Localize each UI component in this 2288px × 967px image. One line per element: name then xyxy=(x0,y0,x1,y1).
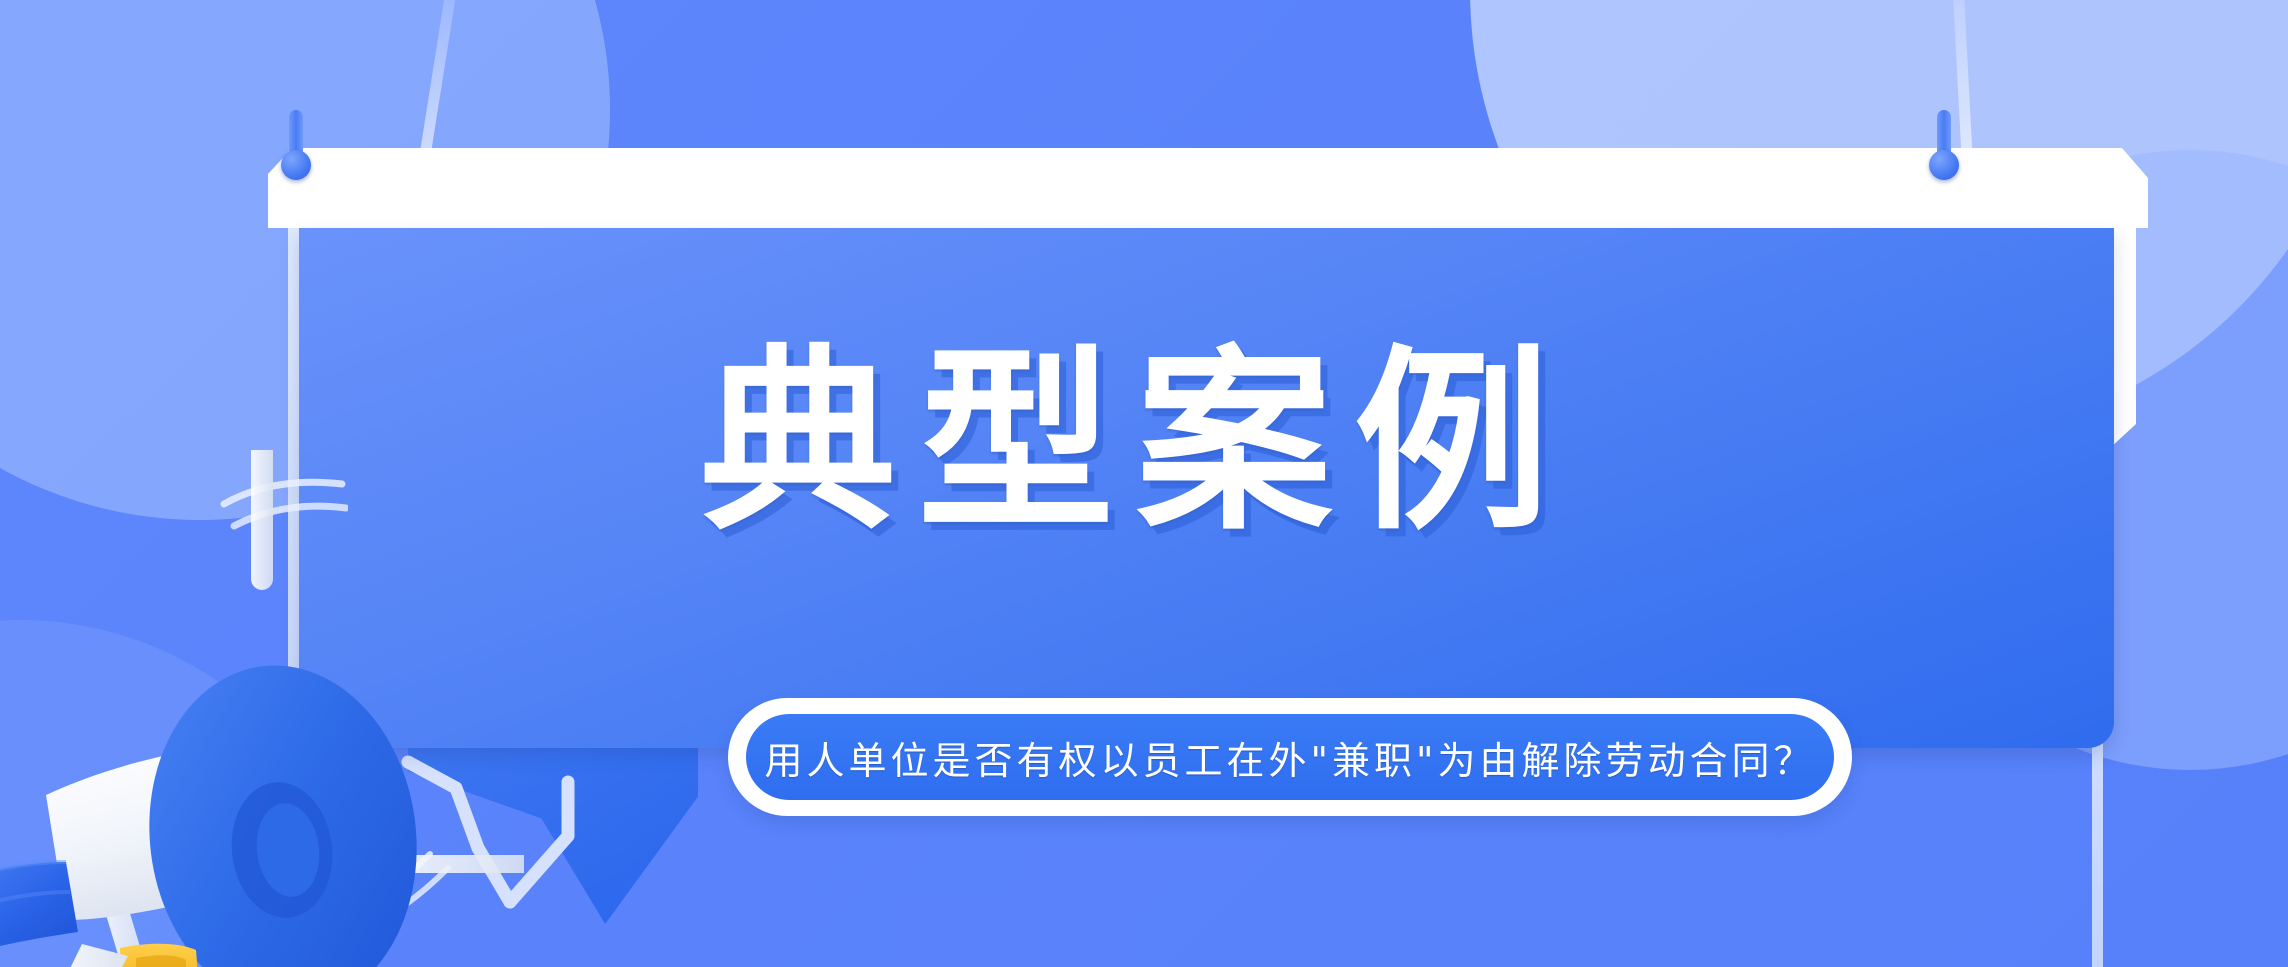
sound-wave-icon xyxy=(310,838,460,948)
megaphone-horn-icon xyxy=(46,746,272,920)
megaphone-bell-mouth-icon xyxy=(252,800,325,901)
megaphone-handle-icon xyxy=(38,944,128,967)
megaphone-grip-icon xyxy=(0,862,78,966)
hanging-string-icon xyxy=(418,0,461,166)
frame-rail-left-icon xyxy=(288,228,299,840)
subtitle-text: 用人单位是否有权以员工在外"兼职"为由解除劳动合同？ xyxy=(765,730,1816,785)
case-study-banner: 典型案例 用人单位是否有权以员工在外"兼职"为由解除劳动合同？ xyxy=(0,0,2288,967)
page-title: 典型案例 xyxy=(700,318,1810,569)
speech-bubble-tail-icon xyxy=(408,742,698,924)
hanging-string-icon xyxy=(1951,0,1973,165)
subtitle-pill: 用人单位是否有权以员工在外"兼职"为由解除劳动合同？ xyxy=(728,698,1852,816)
megaphone-bell-inner-icon xyxy=(224,776,340,923)
megaphone-trigger-icon xyxy=(120,944,200,967)
hanger-bar-icon xyxy=(268,148,2148,228)
subtitle-pill-inner: 用人单位是否有权以员工在外"兼职"为由解除劳动合同？ xyxy=(746,714,1834,800)
